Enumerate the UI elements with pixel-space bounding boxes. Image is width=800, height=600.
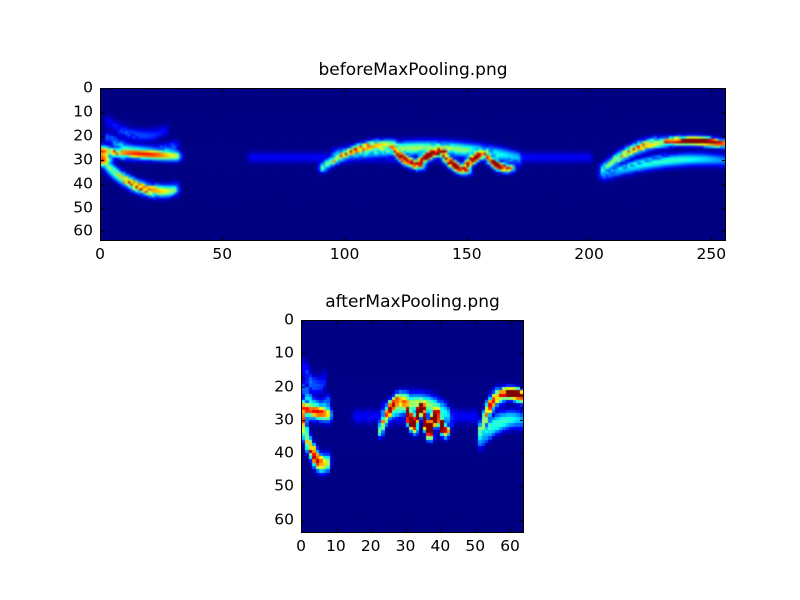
axes-title-after: afterMaxPooling.png <box>301 294 524 311</box>
y-tick-mark-right <box>520 520 524 521</box>
y-tick-mark-right <box>722 88 726 89</box>
x-tick-label: 0 <box>95 247 105 263</box>
y-tick-label: 40 <box>274 445 294 461</box>
y-tick-mark-right <box>520 320 524 321</box>
x-tick-label: 30 <box>396 539 416 555</box>
y-tick-label: 60 <box>274 512 294 528</box>
x-tick-label: 0 <box>296 539 306 555</box>
y-tick-mark <box>301 387 305 388</box>
x-tick-mark <box>711 237 712 241</box>
x-tick-mark-top <box>711 88 712 92</box>
y-tick-mark <box>100 160 104 161</box>
y-tick-label: 10 <box>73 104 93 120</box>
x-tick-mark <box>475 529 476 533</box>
y-tick-mark <box>100 231 104 232</box>
x-tick-mark-top <box>440 320 441 324</box>
x-tick-label: 250 <box>697 247 727 263</box>
y-tick-label: 60 <box>73 224 93 240</box>
y-tick-label: 40 <box>73 176 93 192</box>
y-tick-mark <box>301 453 305 454</box>
x-tick-mark <box>510 529 511 533</box>
y-tick-mark-right <box>520 387 524 388</box>
y-tick-mark <box>301 320 305 321</box>
heatmap-canvas-after <box>302 321 523 532</box>
y-tick-label: 20 <box>274 379 294 395</box>
x-tick-mark-top <box>336 320 337 324</box>
x-tick-mark <box>100 237 101 241</box>
x-tick-label: 50 <box>212 247 232 263</box>
x-tick-mark <box>440 529 441 533</box>
axes-after-max-pooling: afterMaxPooling.png 01020304050600102030… <box>301 320 524 533</box>
y-tick-mark <box>100 136 104 137</box>
y-tick-mark-right <box>520 486 524 487</box>
x-tick-mark <box>467 237 468 241</box>
x-tick-mark-top <box>371 320 372 324</box>
x-tick-label: 200 <box>574 247 604 263</box>
heatmap-before <box>100 88 726 241</box>
y-tick-label: 30 <box>274 412 294 428</box>
y-tick-label: 0 <box>83 80 93 96</box>
y-tick-mark-right <box>520 453 524 454</box>
x-tick-mark-top <box>510 320 511 324</box>
x-tick-label: 20 <box>361 539 381 555</box>
y-tick-mark-right <box>722 136 726 137</box>
y-tick-label: 50 <box>274 479 294 495</box>
x-tick-label: 40 <box>431 539 451 555</box>
y-tick-mark-right <box>722 184 726 185</box>
x-tick-mark-top <box>345 88 346 92</box>
x-tick-mark <box>301 529 302 533</box>
y-tick-label: 50 <box>73 200 93 216</box>
y-tick-mark <box>100 184 104 185</box>
y-tick-mark-right <box>520 353 524 354</box>
x-tick-mark-top <box>406 320 407 324</box>
y-tick-label: 10 <box>274 346 294 362</box>
y-tick-mark-right <box>722 208 726 209</box>
x-tick-label: 150 <box>452 247 482 263</box>
y-tick-mark-right <box>520 420 524 421</box>
y-tick-mark <box>301 486 305 487</box>
x-tick-mark <box>589 237 590 241</box>
x-tick-mark-top <box>222 88 223 92</box>
y-tick-label: 0 <box>284 312 294 328</box>
x-tick-mark-top <box>475 320 476 324</box>
x-tick-label: 100 <box>330 247 360 263</box>
x-tick-label: 60 <box>500 539 520 555</box>
matplotlib-figure: beforeMaxPooling.png 0501001502002500102… <box>0 0 800 600</box>
x-tick-mark <box>345 237 346 241</box>
x-tick-label: 50 <box>465 539 485 555</box>
x-tick-mark-top <box>589 88 590 92</box>
x-tick-mark-top <box>467 88 468 92</box>
y-tick-mark <box>301 420 305 421</box>
heatmap-canvas-before <box>101 89 725 240</box>
heatmap-after <box>301 320 524 533</box>
y-tick-mark <box>100 88 104 89</box>
axes-title-before: beforeMaxPooling.png <box>100 62 726 79</box>
y-tick-label: 20 <box>73 128 93 144</box>
y-tick-mark <box>100 112 104 113</box>
y-tick-mark-right <box>722 160 726 161</box>
x-tick-mark <box>336 529 337 533</box>
y-tick-mark <box>100 208 104 209</box>
x-tick-label: 10 <box>326 539 346 555</box>
y-tick-mark <box>301 353 305 354</box>
y-tick-label: 30 <box>73 152 93 168</box>
x-tick-mark <box>406 529 407 533</box>
x-tick-mark <box>222 237 223 241</box>
y-tick-mark-right <box>722 112 726 113</box>
y-tick-mark-right <box>722 231 726 232</box>
axes-before-max-pooling: beforeMaxPooling.png 0501001502002500102… <box>100 88 726 241</box>
x-tick-mark <box>371 529 372 533</box>
y-tick-mark <box>301 520 305 521</box>
